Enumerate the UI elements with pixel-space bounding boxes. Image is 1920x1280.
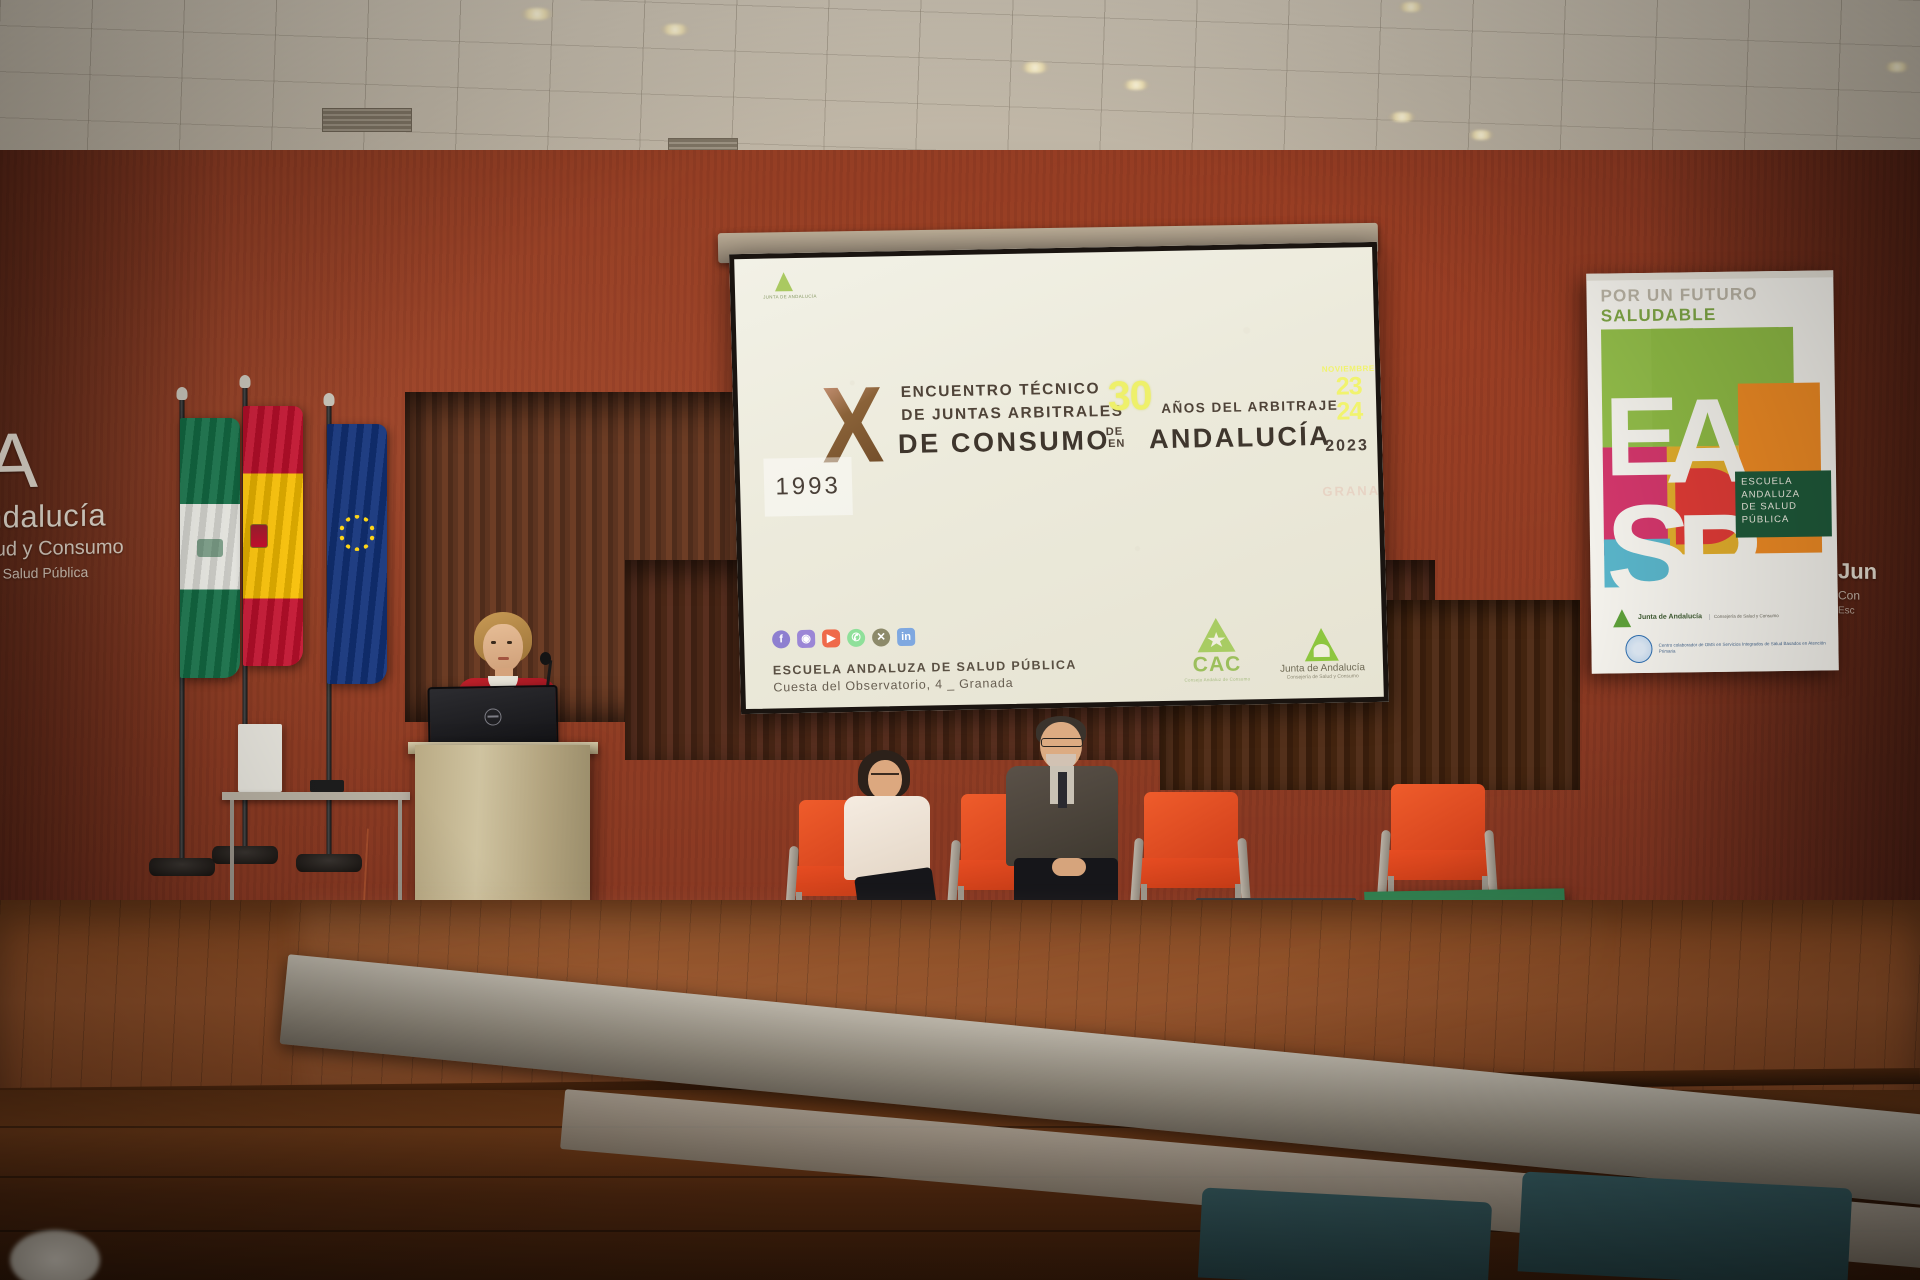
flag-finial: [324, 393, 335, 406]
banner-footer: Junta de Andalucía Consejería de Salud y…: [1591, 584, 1839, 673]
who-seal-icon: [1625, 635, 1653, 663]
screen-frame: [729, 242, 1389, 714]
chair-back: [1144, 792, 1238, 866]
audience-seat: [1198, 1187, 1492, 1280]
seated-man-hands: [1052, 858, 1086, 876]
ceiling-light: [1020, 62, 1050, 73]
flag-finial: [240, 375, 251, 388]
wall-signage-line-1: a de Andalucía: [0, 496, 170, 538]
junta-triangle-icon: [1613, 609, 1631, 627]
audience-seat: [1518, 1171, 1853, 1280]
wall-signage-right: Jun Con Esc: [1838, 558, 1920, 619]
seated-woman-blouse: [844, 796, 930, 880]
ceiling-vent: [322, 108, 412, 132]
banner-junta-logo-row: Junta de Andalucía Consejería de Salud y…: [1613, 607, 1779, 627]
banner-green-line-3: DE SALUD: [1741, 500, 1825, 514]
laptop-dell: [427, 685, 558, 749]
ceiling-light: [1468, 130, 1494, 140]
banner-who-row: Centro colaborador de OMS en Servicios I…: [1625, 632, 1838, 663]
wall-signage-right-line-1: Jun: [1838, 558, 1920, 587]
ceiling-light: [1388, 112, 1416, 122]
ceiling-light: [1398, 2, 1424, 12]
spain-crest-icon: [250, 524, 268, 548]
banner-junta-name: Junta de Andalucía: [1638, 613, 1702, 622]
chair-seat: [1135, 858, 1247, 888]
dell-logo-icon: [484, 708, 501, 725]
junta-logo-letter: A: [0, 427, 170, 492]
easp-rollup-banner: POR UN FUTURO SALUDABLE E A S P ESCUELA …: [1586, 270, 1839, 673]
speaker-face: [483, 624, 523, 672]
banner-headline-top: POR UN FUTURO: [1600, 284, 1758, 306]
seated-man-glasses-icon: [1041, 738, 1083, 747]
eu-stars-icon: [339, 515, 375, 551]
microphone-icon: [540, 652, 551, 665]
projection-screen: JUNTA DE ANDALUCÍA X ENCUENTRO TÉCNICO D…: [729, 242, 1389, 714]
ceiling-light: [520, 8, 554, 20]
flag-finial: [177, 387, 188, 400]
banner-junta-subtitle: Consejería de Salud y Consumo: [1709, 613, 1779, 620]
side-table: [222, 792, 410, 800]
flag-base: [149, 858, 215, 876]
ceiling-light: [1884, 62, 1910, 72]
ceiling-light: [1122, 80, 1150, 90]
banner-green-line-4: PÚBLICA: [1742, 513, 1826, 527]
speaker-mouth: [498, 657, 509, 660]
banner-who-text: Centro colaborador de OMS en Servicios I…: [1659, 640, 1839, 655]
flag-andalucia: [150, 400, 214, 870]
chair-seat: [1382, 850, 1494, 880]
banner-headline-bottom: SALUDABLE: [1601, 305, 1717, 327]
flag-cloth-spain: [243, 406, 303, 666]
seated-woman-glasses-icon: [871, 773, 899, 780]
seated-woman-face: [868, 760, 902, 800]
speaker-eye-left: [491, 641, 496, 644]
ceiling-light: [660, 24, 690, 35]
photo-scene: A a de Andalucía ería de Salud y Consumo…: [0, 0, 1920, 1280]
flag-cloth-eu: [327, 424, 387, 684]
white-box-object: [238, 724, 282, 792]
speaker-eye-right: [507, 641, 512, 644]
black-device: [310, 780, 344, 792]
wall-signage-junta-andalucia: A a de Andalucía ería de Salud y Consumo…: [0, 427, 170, 584]
banner-green-line-1: ESCUELA: [1741, 475, 1825, 489]
banner-green-line-2: ANDALUZA: [1741, 488, 1825, 502]
wall-signage-right-line-2: Con: [1838, 588, 1920, 605]
chair-back: [1391, 784, 1485, 858]
wall-signage-line-2: ería de Salud y Consumo: [0, 535, 170, 564]
seated-man-tie: [1058, 772, 1067, 808]
banner-green-label-box: ESCUELA ANDALUZA DE SALUD PÚBLICA: [1735, 470, 1832, 537]
